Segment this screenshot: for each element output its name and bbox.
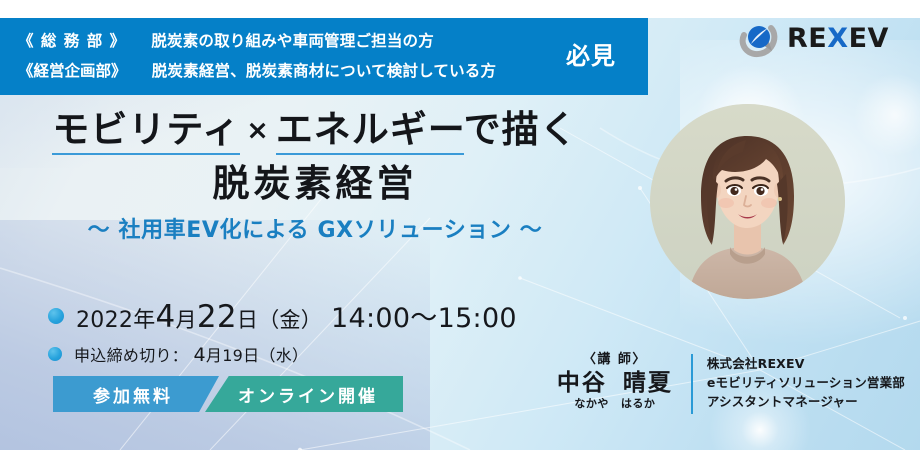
event-datetime-row: 2022年4月22日（金） 14:00〜15:00 (48, 296, 517, 335)
badge-free-participation: 参加無料 (53, 376, 219, 412)
speaker-divider (691, 354, 693, 414)
rexev-logo-text: REXEV (787, 25, 889, 52)
rexev-logo-mark-icon (738, 18, 778, 58)
speaker-name-kana: なかやはるか (545, 397, 685, 410)
speaker-position: アシスタントマネージャー (707, 392, 905, 411)
speaker-name-family: 中谷 (557, 370, 607, 396)
title-keyword-energy: エネルギー (276, 108, 464, 155)
logo-text-ev: EV (849, 25, 889, 52)
speaker-kana-family: なかや (574, 397, 609, 410)
application-deadline-text: 申込締め切り： 4月19日（水） (74, 342, 308, 366)
speaker-name: 中谷晴夏 (545, 369, 685, 397)
title-line-1: モビリティ×エネルギーで描く (0, 104, 630, 157)
title-times-symbol: × (240, 115, 276, 146)
event-month-unit: 月 (176, 308, 197, 332)
speaker-affiliation-block: 株式会社REXEV eモビリティソリューション営業部 アシスタントマネージャー (707, 352, 905, 411)
audience-text-1: 脱炭素の取り組みや車両管理ご担当の方 (151, 32, 434, 50)
event-year: 2022年 (76, 308, 156, 333)
event-badges: 参加無料 オンライン開催 (53, 376, 403, 412)
department-label-1: 《 総 務 部 》 (18, 32, 126, 50)
bullet-dot-icon-small (48, 347, 62, 361)
webinar-poster: 《 総 務 部 》 脱炭素の取り組みや車両管理ご担当の方 《経営企画部》 脱炭素… (0, 0, 920, 450)
event-day-number: 22 (197, 299, 237, 335)
deadline-label: 申込締め切り： (74, 346, 188, 365)
application-deadline-row: 申込締め切り： 4月19日（水） (48, 342, 308, 366)
event-month-number: 4 (156, 299, 176, 335)
event-time: 14:00〜15:00 (331, 303, 517, 334)
target-audience-rows: 《 総 務 部 》 脱炭素の取り組みや車両管理ご担当の方 《経営企画部》 脱炭素… (18, 26, 548, 86)
rexev-logo[interactable]: REXEV (738, 16, 908, 60)
department-label-2: 《経営企画部》 (18, 62, 127, 80)
speaker-info: 〈講 師〉 中谷晴夏 なかやはるか 株式会社REXEV eモビリティソリューショ… (545, 352, 905, 422)
title-block: モビリティ×エネルギーで描く 脱炭素経営 〜 社用車EV化による GXソリューシ… (0, 104, 630, 248)
title-subtitle: 〜 社用車EV化による GXソリューション 〜 (0, 214, 630, 248)
target-audience-row-1: 《 総 務 部 》 脱炭素の取り組みや車両管理ご担当の方 (18, 26, 548, 56)
target-audience-banner: 《 総 務 部 》 脱炭素の取り組みや車両管理ご担当の方 《経営企画部》 脱炭素… (0, 18, 648, 95)
badge-online-event: オンライン開催 (205, 376, 403, 412)
audience-text-2: 脱炭素経営、脱炭素商材について検討している方 (152, 62, 496, 80)
target-audience-row-2: 《経営企画部》 脱炭素経営、脱炭素商材について検討している方 (18, 56, 548, 86)
speaker-photo-wrap (650, 104, 845, 334)
speaker-role-label: 〈講 師〉 (545, 352, 685, 368)
speaker-name-given: 晴夏 (623, 370, 673, 396)
title-keyword-mobility: モビリティ (52, 108, 240, 155)
title-line-1-tail: で描く (464, 108, 578, 151)
deadline-month: 4 (194, 344, 206, 366)
speaker-photo-circle (650, 104, 845, 299)
title-line-2: 脱炭素経営 (0, 159, 630, 209)
speaker-company: 株式会社REXEV (707, 354, 905, 373)
logo-text-re: RE (787, 25, 827, 52)
event-day-unit: 日（金） (237, 308, 322, 332)
deadline-rest: 月19日（水） (206, 346, 308, 365)
event-datetime-text: 2022年4月22日（金） 14:00〜15:00 (76, 296, 517, 335)
speaker-portrait-image (650, 104, 845, 299)
speaker-department: eモビリティソリューション営業部 (707, 373, 905, 392)
speaker-kana-given: はるか (621, 397, 656, 410)
must-see-badge: 必見 (566, 39, 616, 73)
bullet-dot-icon (48, 308, 64, 324)
speaker-name-block: 〈講 師〉 中谷晴夏 なかやはるか (545, 352, 685, 410)
logo-text-x: X (827, 25, 848, 52)
